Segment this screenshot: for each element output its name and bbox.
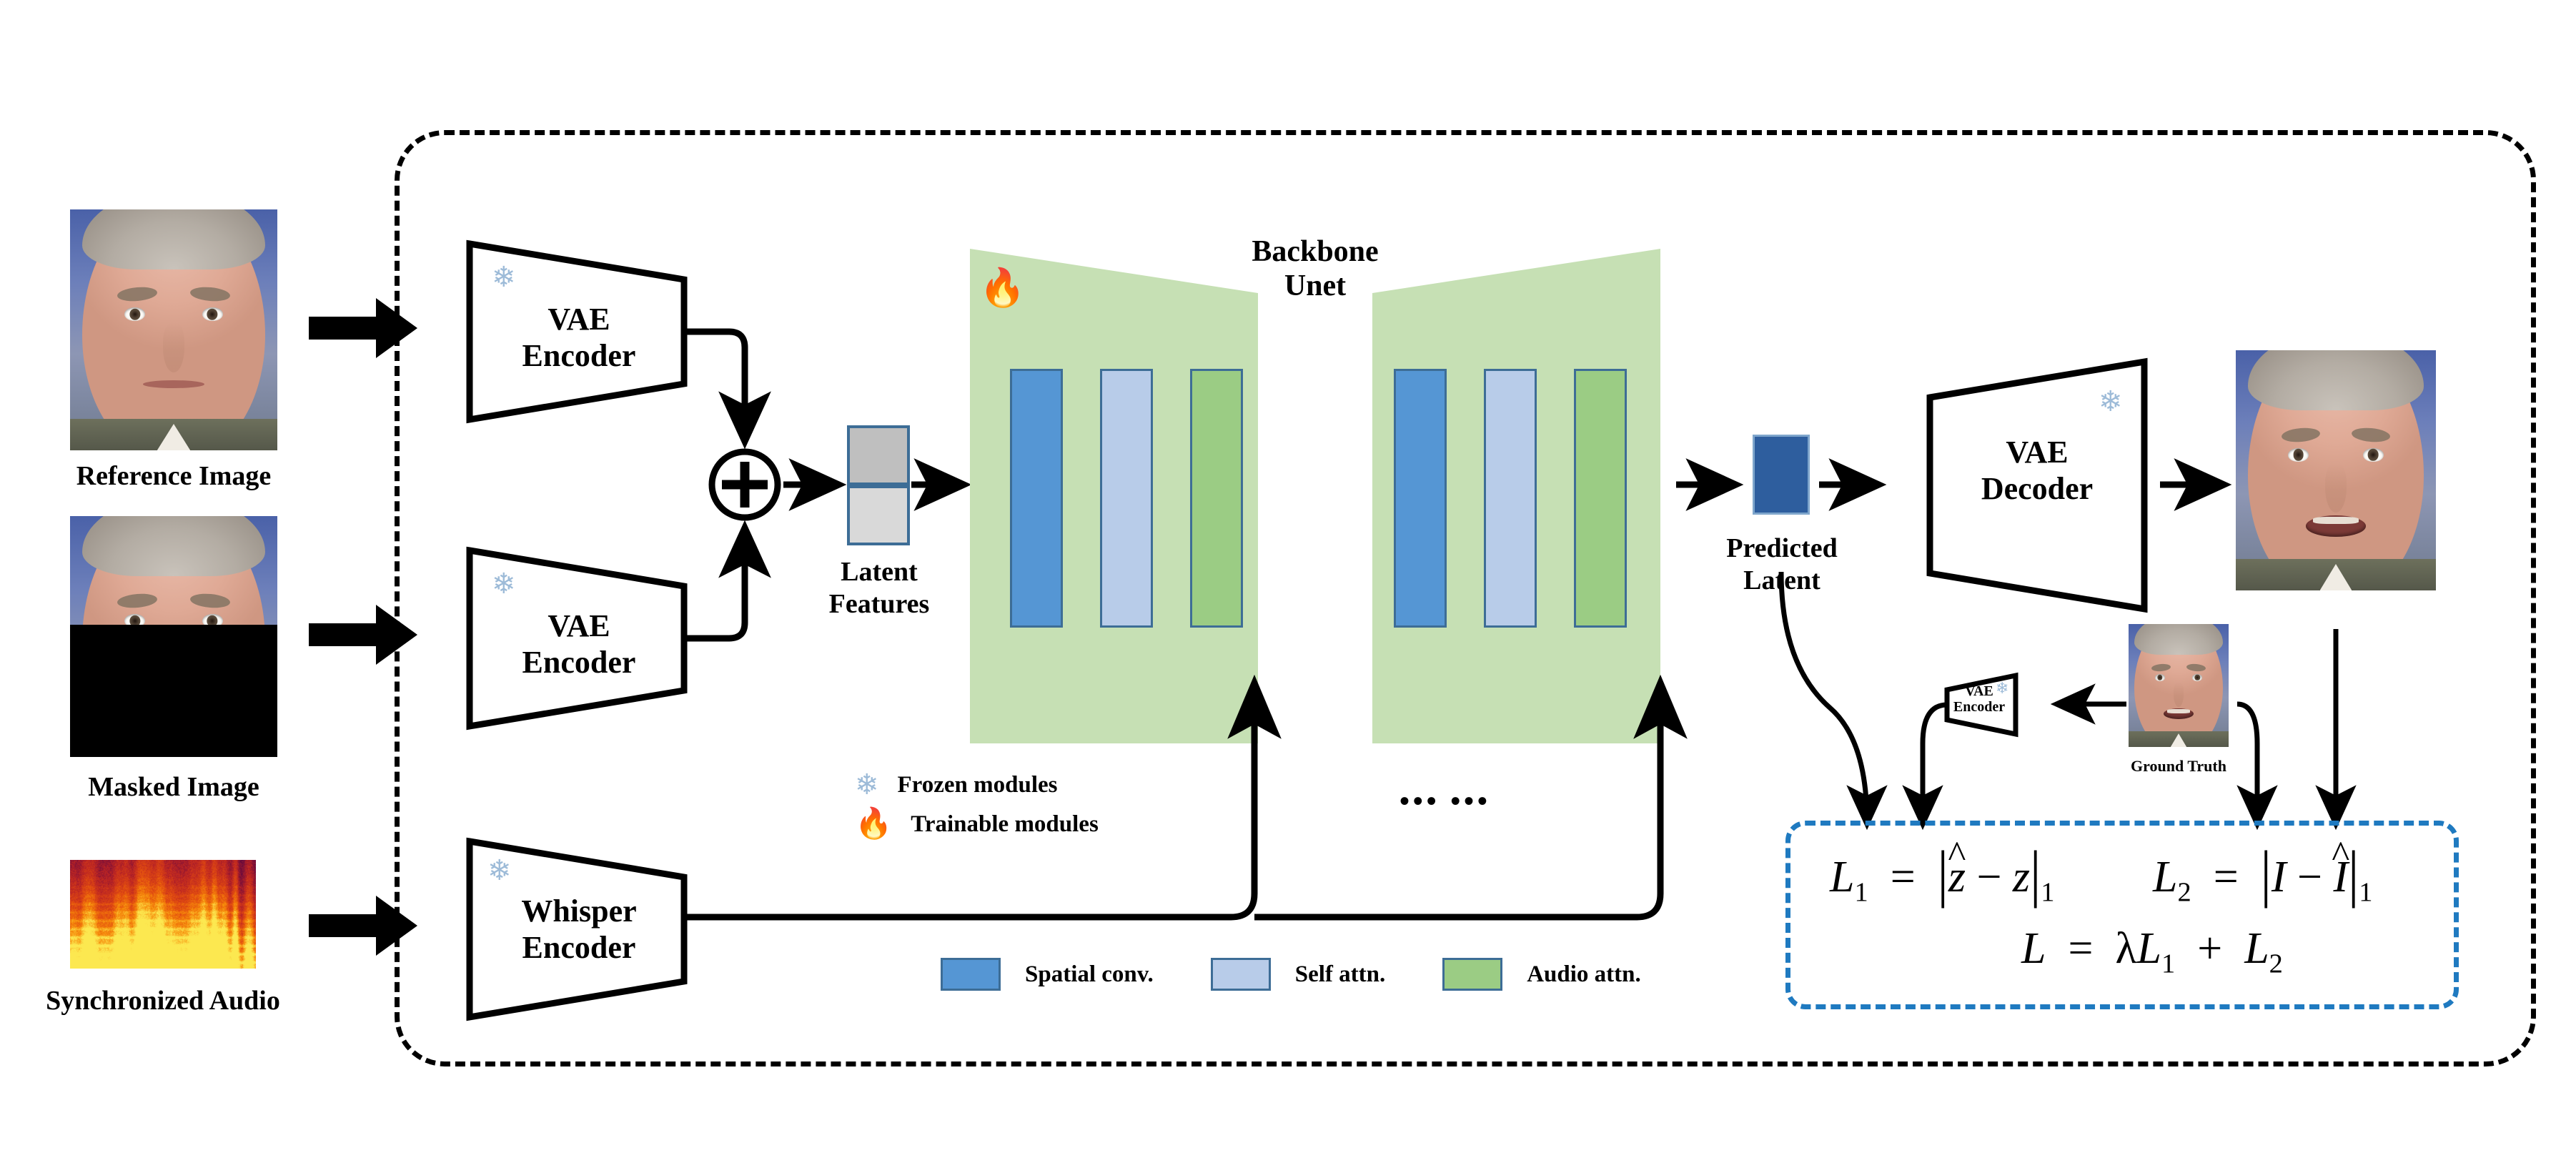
audio-spectrogram-thumbnail — [70, 860, 256, 969]
vae-encoder-1-box[interactable]: ❄ VAE Encoder — [472, 250, 686, 418]
snowflake-icon: ❄ — [2099, 387, 2123, 416]
spectrogram-canvas — [70, 860, 256, 969]
loss-l2-equation: L2 = |I − ^I|1 — [2153, 843, 2372, 908]
legend-trainable-label: Trainable modules — [911, 811, 1099, 838]
gt-vae-encoder-label-line2: Encoder — [1953, 699, 2005, 715]
vae-encoder-2-label-line2: Encoder — [522, 645, 636, 680]
loss-l1-equation: L1 = |^z − z|1 — [1830, 843, 2054, 908]
predicted-latent-label-line1: Predicted — [1726, 533, 1837, 563]
ground-truth-label: Ground Truth — [2100, 758, 2257, 776]
legend-label-self-attn: Self attn. — [1295, 961, 1386, 988]
unet-block-self-attn — [1100, 369, 1153, 628]
latent-features-label: Latent Features — [772, 556, 986, 620]
latent-features-label-line2: Features — [829, 589, 930, 619]
legend-swatch-self-attn — [1211, 958, 1271, 991]
gt-vae-encoder-box[interactable]: ❄ VAE Encoder — [1947, 678, 2017, 732]
vae-encoder-1-label-line2: Encoder — [522, 338, 636, 373]
loss-total-equation: L = λL1 + L2 — [2021, 924, 2283, 979]
mask-region — [70, 625, 277, 757]
unet-block-spatial-conv — [1394, 369, 1447, 628]
backbone-unet-title-line1: Backbone — [1252, 235, 1378, 268]
ground-truth-thumbnail — [2129, 624, 2229, 747]
predicted-latent-block — [1753, 435, 1810, 515]
vae-encoder-2-label-line1: VAE — [548, 608, 610, 643]
unet-ellipsis: ••• ••• — [1400, 784, 1491, 818]
generated-output-thumbnail — [2236, 350, 2436, 590]
latent-features-block — [847, 425, 910, 545]
backbone-unet-title: Backbone Unet — [1172, 234, 1458, 304]
synchronized-audio-label: Synchronized Audio — [13, 985, 313, 1017]
vae-decoder-box[interactable]: ❄ VAE Decoder — [1930, 372, 2144, 572]
snowflake-icon: ❄ — [492, 570, 516, 598]
latent-cell-top — [847, 425, 910, 485]
gt-vae-encoder-label-line1: VAE — [1965, 683, 1993, 699]
diagram-canvas: Reference Image Masked Image Synchronize… — [0, 0, 2576, 1173]
flame-icon: 🔥 — [979, 270, 1026, 307]
legend-label-spatial-conv: Spatial conv. — [1025, 961, 1154, 988]
whisper-encoder-label-line2: Encoder — [522, 930, 636, 965]
flame-icon: 🔥 — [855, 809, 892, 839]
backbone-unet-title-line2: Unet — [1284, 269, 1346, 302]
masked-image-thumbnail — [70, 516, 277, 757]
whisper-encoder-box[interactable]: ❄ Whisper Encoder — [472, 848, 686, 1016]
unet-block-audio-attn — [1190, 369, 1243, 628]
vae-encoder-2-box[interactable]: ❄ VAE Encoder — [472, 557, 686, 725]
predicted-latent-label: Predicted Latent — [1665, 533, 1898, 597]
vae-encoder-1-label-line1: VAE — [548, 302, 610, 337]
module-legend: ❄ Frozen modules 🔥 Trainable modules — [855, 771, 1099, 839]
snowflake-icon: ❄ — [855, 771, 879, 799]
unet-block-self-attn — [1484, 369, 1537, 628]
block-legend: Spatial conv. Self attn. Audio attn. — [941, 958, 1641, 991]
vae-decoder-label-line1: VAE — [2006, 435, 2068, 470]
whisper-encoder-label-line1: Whisper — [521, 894, 636, 929]
legend-label-audio-attn: Audio attn. — [1527, 961, 1641, 988]
predicted-latent-label-line2: Latent — [1743, 565, 1820, 595]
latent-cell-bottom — [847, 485, 910, 545]
legend-frozen-label: Frozen modules — [898, 772, 1058, 798]
latent-features-label-line1: Latent — [841, 557, 918, 587]
masked-image-label: Masked Image — [41, 772, 306, 803]
snowflake-icon: ❄ — [487, 856, 512, 885]
vae-decoder-label-line2: Decoder — [1981, 471, 2093, 506]
synchronized-audio-label-text: Synchronized Audio — [46, 986, 280, 1016]
legend-swatch-spatial-conv — [941, 958, 1001, 991]
legend-swatch-audio-attn — [1442, 958, 1502, 991]
unet-block-audio-attn — [1574, 369, 1627, 628]
reference-image-thumbnail — [70, 209, 277, 450]
reference-image-label: Reference Image — [27, 461, 320, 492]
snowflake-icon: ❄ — [492, 263, 516, 292]
unet-block-spatial-conv — [1010, 369, 1063, 628]
